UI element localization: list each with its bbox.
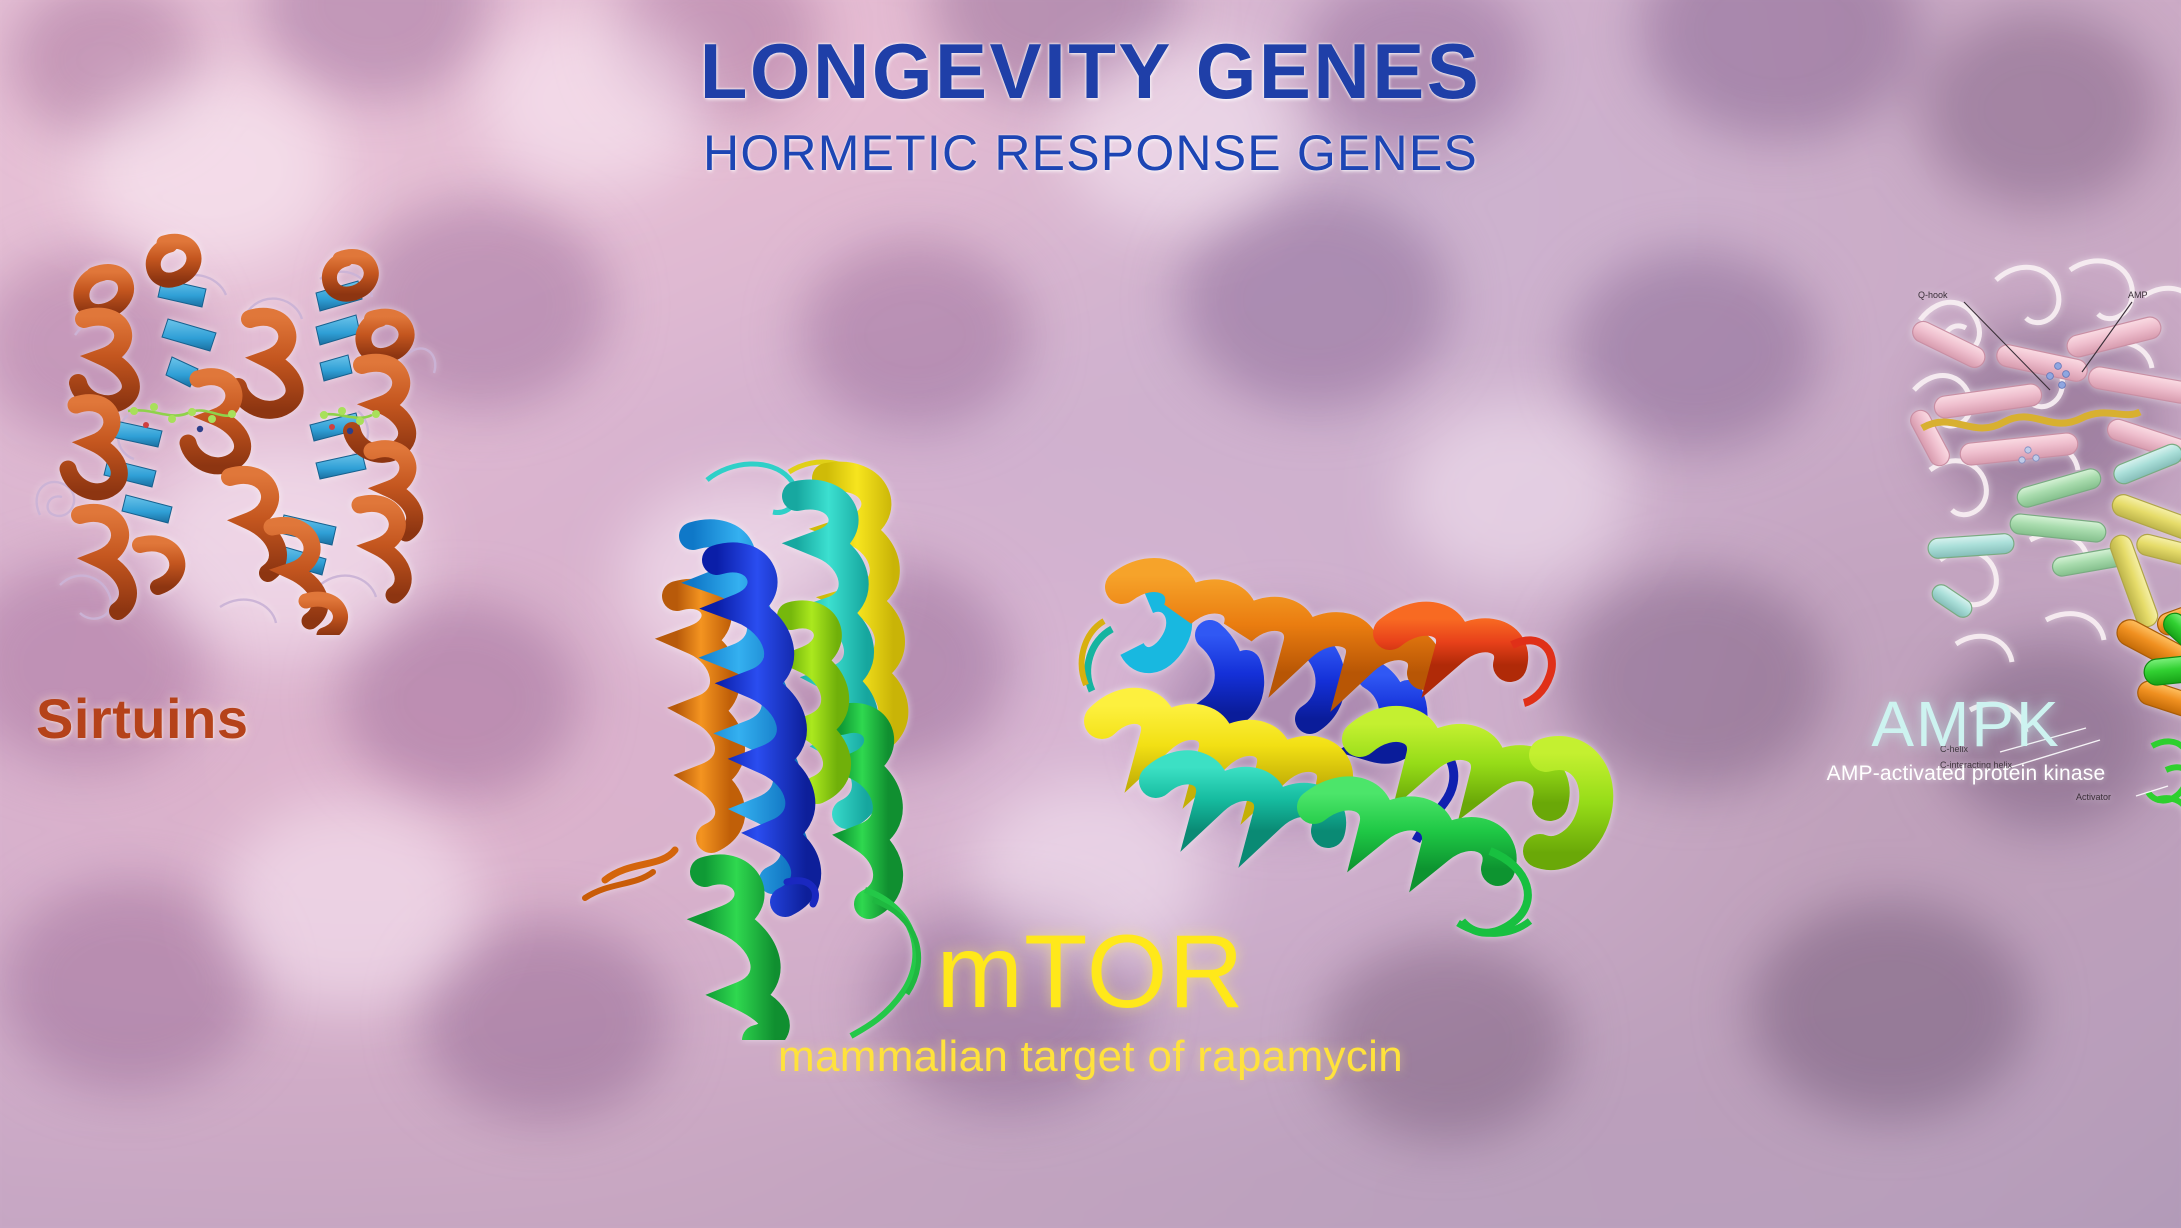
ampk-sublabel: AMP-activated protein kinase: [1801, 762, 2131, 786]
page-title: LONGEVITY GENES: [0, 32, 2181, 112]
page-subtitle: HORMETIC RESPONSE GENES: [0, 124, 2181, 182]
mtor-label-group: mTOR mammalian target of rapamycin: [0, 920, 2181, 1082]
ampk-label: AMPK: [1801, 692, 2131, 756]
ampk-annotation-q-hook: Q-hook: [1918, 290, 1948, 300]
ampk-annotation-amp: AMP: [2128, 290, 2148, 300]
sirtuins-label: Sirtuins: [36, 686, 248, 751]
mtor-sublabel: mammalian target of rapamycin: [0, 1032, 2181, 1082]
slide-canvas: LONGEVITY GENES HORMETIC RESPONSE GENES: [0, 0, 2181, 1228]
ampk-label-group: AMPK AMP-activated protein kinase: [1801, 692, 2131, 786]
ampk-annotation-activator: Activator: [2076, 792, 2111, 802]
slide-header: LONGEVITY GENES HORMETIC RESPONSE GENES: [0, 32, 2181, 182]
mtor-protein-structure-b: [1060, 525, 1630, 945]
mtor-label: mTOR: [0, 920, 2181, 1024]
sirtuins-protein-structure: [20, 215, 450, 635]
